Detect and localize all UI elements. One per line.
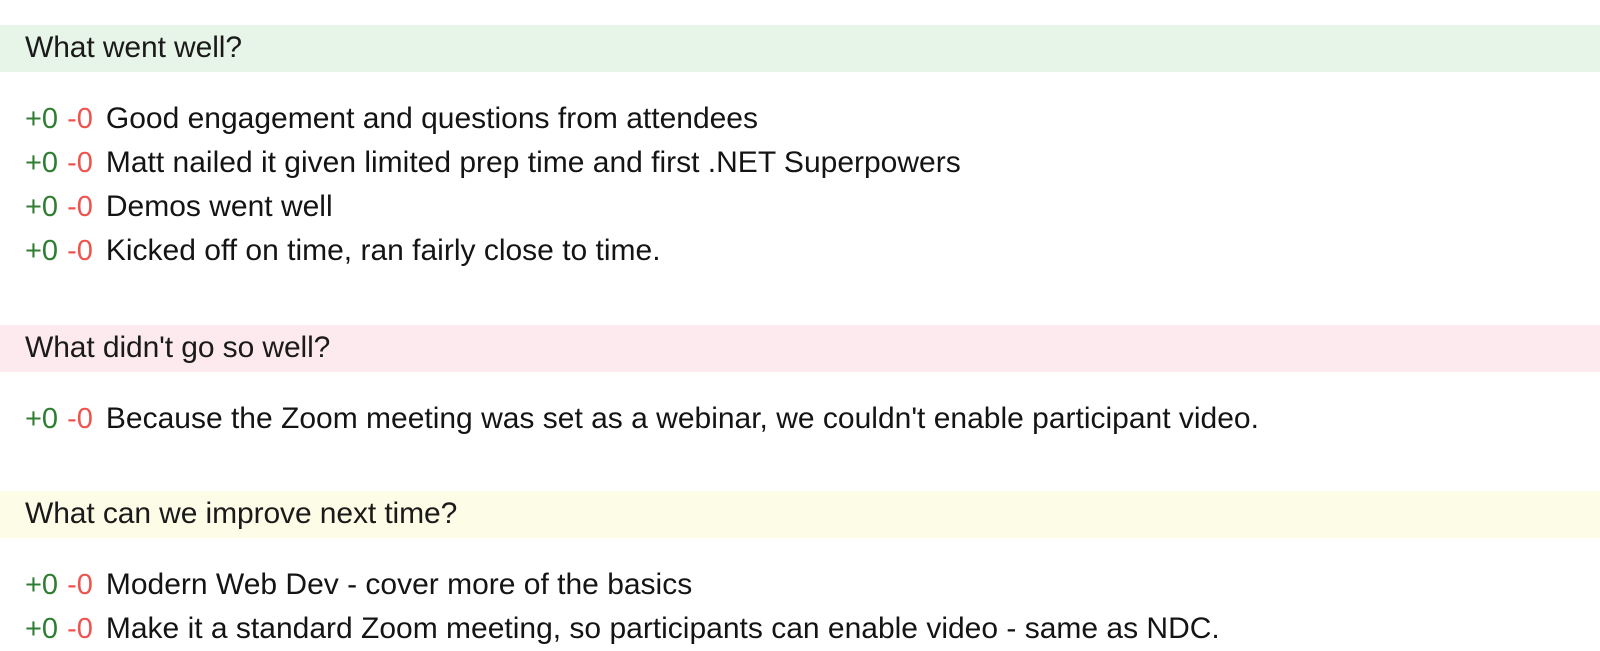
item-text[interactable]: Kicked off on time, ran fairly close to … bbox=[106, 232, 661, 270]
item-text[interactable]: Demos went well bbox=[106, 188, 333, 226]
item-text[interactable]: Because the Zoom meeting was set as a we… bbox=[106, 400, 1259, 438]
list-item[interactable]: +0 -0 Kicked off on time, ran fairly clo… bbox=[0, 229, 1600, 273]
list-item[interactable]: +0 -0 Good engagement and questions from… bbox=[0, 97, 1600, 141]
vote-down-count[interactable]: -0 bbox=[67, 610, 93, 648]
vote-down-count[interactable]: -0 bbox=[67, 232, 93, 270]
vote-down-count[interactable]: -0 bbox=[67, 144, 93, 182]
item-text[interactable]: Matt nailed it given limited prep time a… bbox=[106, 144, 961, 182]
vote-up-count[interactable]: +0 bbox=[25, 566, 58, 604]
section-spacer bbox=[0, 273, 1600, 300]
list-item[interactable]: +0 -0 Demos went well bbox=[0, 185, 1600, 229]
list-item[interactable]: +0 -0 Make it a standard Zoom meeting, s… bbox=[0, 607, 1600, 651]
section-what-didnt-go-so-well: What didn't go so well? +0 -0 Because th… bbox=[0, 325, 1600, 441]
vote-up-count[interactable]: +0 bbox=[25, 188, 58, 226]
list-item[interactable]: +0 -0 Because the Zoom meeting was set a… bbox=[0, 397, 1600, 441]
section-heading-what-didnt-go-so-well: What didn't go so well? bbox=[0, 325, 1600, 372]
vote-down-count[interactable]: -0 bbox=[67, 400, 93, 438]
item-text[interactable]: Modern Web Dev - cover more of the basic… bbox=[106, 566, 692, 604]
item-text[interactable]: Make it a standard Zoom meeting, so part… bbox=[106, 610, 1220, 648]
section-what-went-well: What went well? +0 -0 Good engagement an… bbox=[0, 25, 1600, 273]
item-text[interactable]: Good engagement and questions from atten… bbox=[106, 100, 758, 138]
section-heading-what-can-we-improve-next-time: What can we improve next time? bbox=[0, 491, 1600, 538]
vote-up-count[interactable]: +0 bbox=[25, 232, 58, 270]
item-list-what-didnt-go-so-well: +0 -0 Because the Zoom meeting was set a… bbox=[0, 397, 1600, 441]
vote-down-count[interactable]: -0 bbox=[67, 100, 93, 138]
vote-down-count[interactable]: -0 bbox=[67, 188, 93, 226]
section-heading-what-went-well: What went well? bbox=[0, 25, 1600, 72]
item-list-what-went-well: +0 -0 Good engagement and questions from… bbox=[0, 97, 1600, 273]
list-item[interactable]: +0 -0 Matt nailed it given limited prep … bbox=[0, 141, 1600, 185]
vote-up-count[interactable]: +0 bbox=[25, 400, 58, 438]
section-spacer bbox=[0, 441, 1600, 467]
vote-up-count[interactable]: +0 bbox=[25, 144, 58, 182]
item-list-what-can-we-improve-next-time: +0 -0 Modern Web Dev - cover more of the… bbox=[0, 563, 1600, 651]
vote-up-count[interactable]: +0 bbox=[25, 100, 58, 138]
retrospective-board: What went well? +0 -0 Good engagement an… bbox=[0, 25, 1600, 625]
list-item[interactable]: +0 -0 Modern Web Dev - cover more of the… bbox=[0, 563, 1600, 607]
vote-down-count[interactable]: -0 bbox=[67, 566, 93, 604]
section-what-can-we-improve-next-time: What can we improve next time? +0 -0 Mod… bbox=[0, 491, 1600, 651]
vote-up-count[interactable]: +0 bbox=[25, 610, 58, 648]
